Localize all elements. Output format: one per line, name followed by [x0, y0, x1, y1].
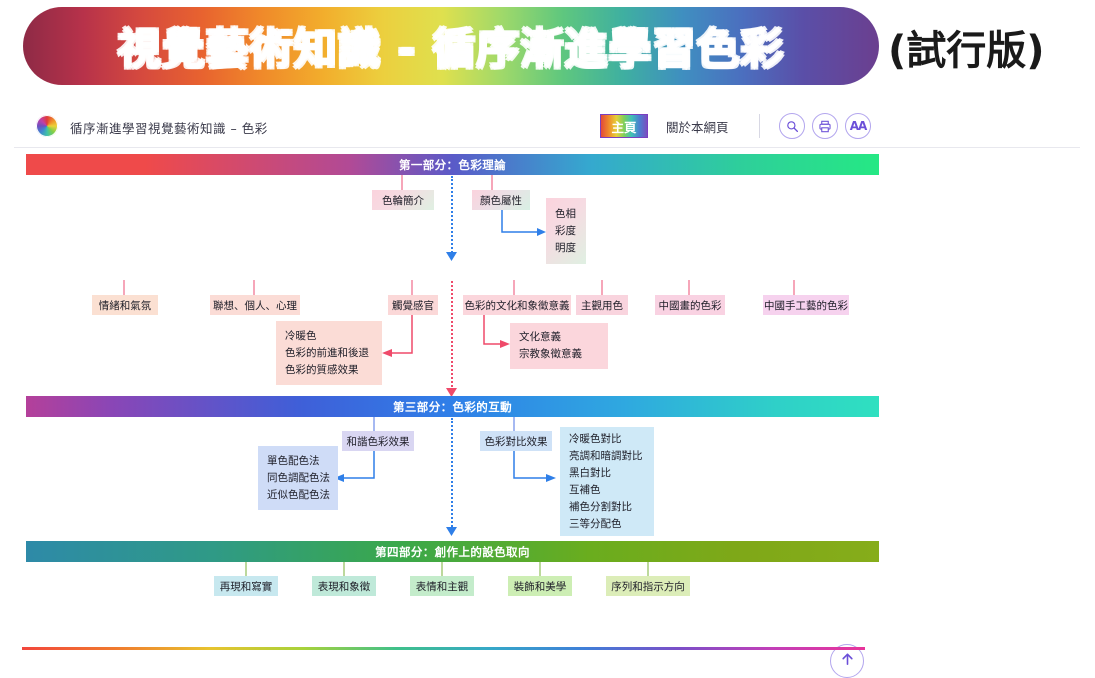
font-size-button[interactable]: AA: [845, 113, 871, 139]
node-representation-realism[interactable]: 再現和寫實: [214, 576, 278, 596]
nav-item-home[interactable]: 主頁: [600, 114, 648, 138]
brand-title: 循序漸進學習視覺藝術知識 – 色彩: [70, 118, 268, 137]
banner-suffix: (試行版): [888, 18, 1045, 76]
node-expression-symbolism[interactable]: 表現和象徵: [312, 576, 376, 596]
color-wheel-icon: [36, 115, 58, 137]
arrow-up-icon: [840, 651, 855, 671]
print-icon: [818, 120, 832, 133]
node-decoration-aesthetics[interactable]: 裝飾和美學: [508, 576, 572, 596]
search-icon: [786, 120, 799, 133]
footer-gradient-rule: [22, 647, 865, 650]
node-emotion-subjectivity[interactable]: 表情和主觀: [410, 576, 474, 596]
banner-title: 視覺藝術知識 - 循序漸進學習色彩: [23, 7, 879, 85]
top-navigation-bar: 循序漸進學習視覺藝術知識 – 色彩 主頁 關於本網頁 AA: [14, 104, 1080, 148]
print-button[interactable]: [812, 113, 838, 139]
course-structure-diagram: 第一部分：色彩理論 色輪簡介 顏色屬性 色相 彩度 明度 第二部分：色彩傳遞的感…: [14, 148, 1080, 656]
node-sequence-direction[interactable]: 序列和指示方向: [606, 576, 690, 596]
banner-title-text: 視覺藝術知識 - 循序漸進學習色彩: [118, 15, 785, 77]
embedded-page: 循序漸進學習視覺藝術知識 – 色彩 主頁 關於本網頁 AA: [14, 104, 1080, 656]
search-button[interactable]: [779, 113, 805, 139]
nav-item-about[interactable]: 關於本網頁: [666, 117, 729, 136]
nav-divider: [759, 114, 760, 138]
font-size-icon: AA: [850, 119, 867, 133]
page-banner: 視覺藝術知識 - 循序漸進學習色彩 (試行版): [0, 0, 1095, 92]
